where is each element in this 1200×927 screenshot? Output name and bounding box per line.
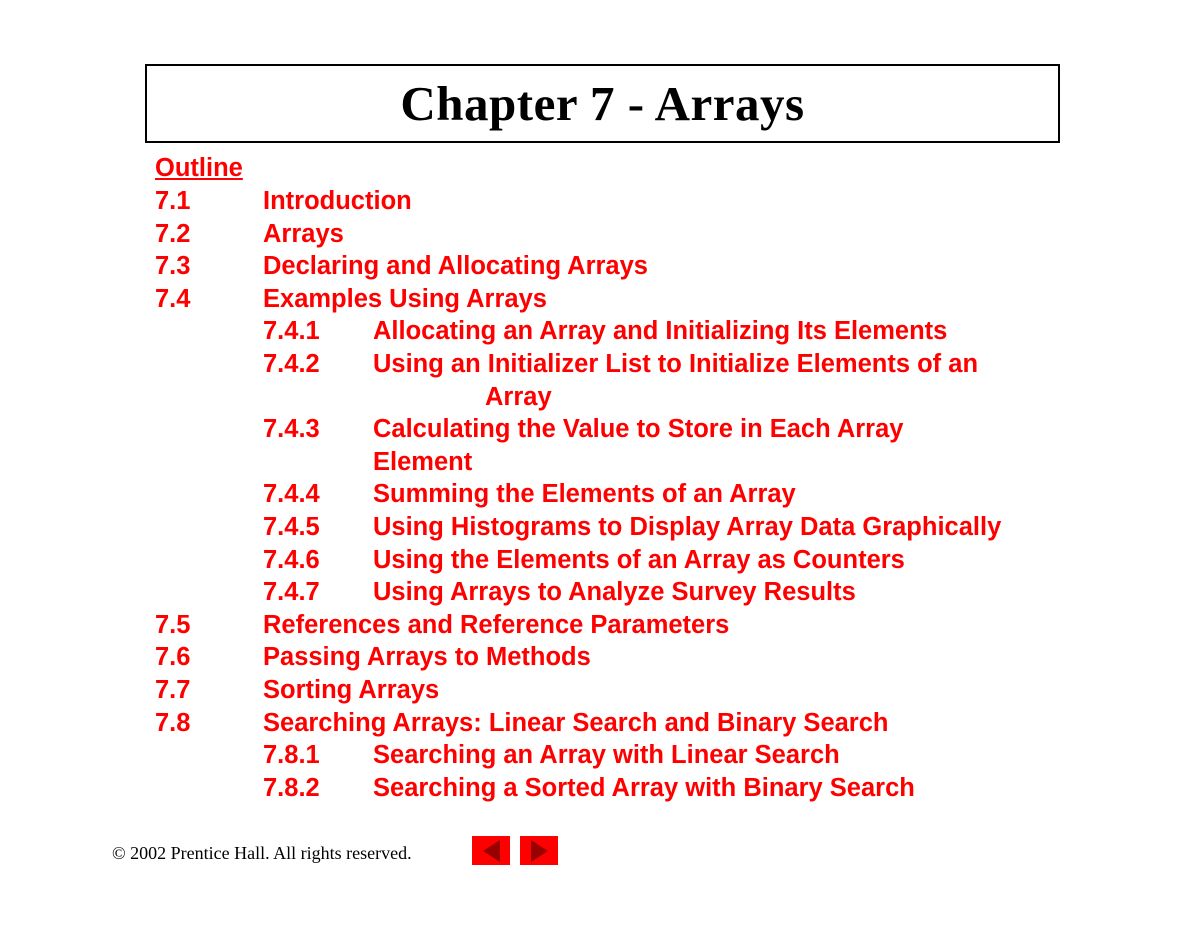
outline-item-number: 7.4.4 (263, 478, 373, 511)
outline-item-7-8[interactable]: 7.8 Searching Arrays: Linear Search and … (155, 707, 1155, 740)
outline-item-number: 7.4 (155, 283, 263, 316)
outline-item-title: References and Reference Parameters (263, 609, 1155, 642)
outline-item-title-continuation: Array (373, 381, 1155, 414)
outline-item-number: 7.8.2 (263, 772, 373, 805)
page-title: Chapter 7 - Arrays (400, 79, 804, 128)
outline-item-title: Searching an Array with Linear Search (373, 739, 1155, 772)
slide-navigation (472, 836, 558, 865)
outline-item-title: Declaring and Allocating Arrays (263, 250, 1155, 283)
outline-item-title: Summing the Elements of an Array (373, 478, 1155, 511)
outline-item-number: 7.8 (155, 707, 263, 740)
outline-heading-row: Outline (155, 152, 1155, 185)
outline-item-number: 7.4.5 (263, 511, 373, 544)
outline-item-number: 7.7 (155, 674, 263, 707)
outline-item-7-5[interactable]: 7.5 References and Reference Parameters (155, 609, 1155, 642)
outline-item-number: 7.4.6 (263, 544, 373, 577)
outline-item-number: 7.1 (155, 185, 263, 218)
outline-item-number: 7.4.7 (263, 576, 373, 609)
outline-item-7-8-1[interactable]: 7.8.1 Searching an Array with Linear Sea… (155, 739, 1155, 772)
outline-item-7-3[interactable]: 7.3 Declaring and Allocating Arrays (155, 250, 1155, 283)
outline-item-number: 7.8.1 (263, 739, 373, 772)
outline-item-number: 7.3 (155, 250, 263, 283)
outline-item-title: Searching a Sorted Array with Binary Sea… (373, 772, 1155, 805)
outline-item-title: Using Histograms to Display Array Data G… (373, 511, 1155, 544)
outline-item-title: Sorting Arrays (263, 674, 1155, 707)
outline-item-title: Using the Elements of an Array as Counte… (373, 544, 1155, 577)
outline-item-number: 7.6 (155, 641, 263, 674)
copyright-notice: © 2002 Prentice Hall. All rights reserve… (112, 843, 412, 864)
previous-slide-button[interactable] (472, 836, 510, 865)
outline-item-7-8-2[interactable]: 7.8.2 Searching a Sorted Array with Bina… (155, 772, 1155, 805)
outline-item-title-group: Calculating the Value to Store in Each A… (373, 413, 1155, 478)
outline-item-7-4-6[interactable]: 7.4.6 Using the Elements of an Array as … (155, 544, 1155, 577)
outline-heading: Outline (155, 152, 243, 185)
slide-title-box: Chapter 7 - Arrays (145, 64, 1060, 143)
outline-item-number: 7.5 (155, 609, 263, 642)
outline-item-title: Using Arrays to Analyze Survey Results (373, 576, 1155, 609)
outline-item-7-4-7[interactable]: 7.4.7 Using Arrays to Analyze Survey Res… (155, 576, 1155, 609)
triangle-left-icon (483, 840, 500, 862)
next-slide-button[interactable] (520, 836, 558, 865)
outline-item-number: 7.2 (155, 218, 263, 251)
outline-item-number: 7.4.1 (263, 315, 373, 348)
outline-item-7-7[interactable]: 7.7 Sorting Arrays (155, 674, 1155, 707)
outline-item-title-group: Using an Initializer List to Initialize … (373, 348, 1155, 413)
outline-item-title: Arrays (263, 218, 1155, 251)
outline-item-title: Passing Arrays to Methods (263, 641, 1155, 674)
outline-item-7-4[interactable]: 7.4 Examples Using Arrays (155, 283, 1155, 316)
outline-item-number: 7.4.2 (263, 348, 373, 381)
outline-item-title: Calculating the Value to Store in Each A… (373, 415, 903, 443)
outline-item-title-continuation: Element (373, 446, 1155, 479)
triangle-right-icon (531, 840, 548, 862)
outline-item-title: Searching Arrays: Linear Search and Bina… (263, 707, 1155, 740)
outline-item-7-4-2[interactable]: 7.4.2 Using an Initializer List to Initi… (155, 348, 1155, 413)
outline-item-title: Allocating an Array and Initializing Its… (373, 315, 1155, 348)
outline-item-title: Introduction (263, 185, 1155, 218)
outline-item-7-6[interactable]: 7.6 Passing Arrays to Methods (155, 641, 1155, 674)
outline-section: Outline 7.1 Introduction 7.2 Arrays 7.3 … (155, 152, 1155, 804)
outline-item-7-4-4[interactable]: 7.4.4 Summing the Elements of an Array (155, 478, 1155, 511)
outline-item-7-4-5[interactable]: 7.4.5 Using Histograms to Display Array … (155, 511, 1155, 544)
outline-item-number: 7.4.3 (263, 413, 373, 446)
outline-item-title: Using an Initializer List to Initialize … (373, 350, 978, 378)
outline-item-7-4-1[interactable]: 7.4.1 Allocating an Array and Initializi… (155, 315, 1155, 348)
outline-item-title: Examples Using Arrays (263, 283, 1155, 316)
outline-item-7-4-3[interactable]: 7.4.3 Calculating the Value to Store in … (155, 413, 1155, 478)
outline-item-7-2[interactable]: 7.2 Arrays (155, 218, 1155, 251)
outline-item-7-1[interactable]: 7.1 Introduction (155, 185, 1155, 218)
